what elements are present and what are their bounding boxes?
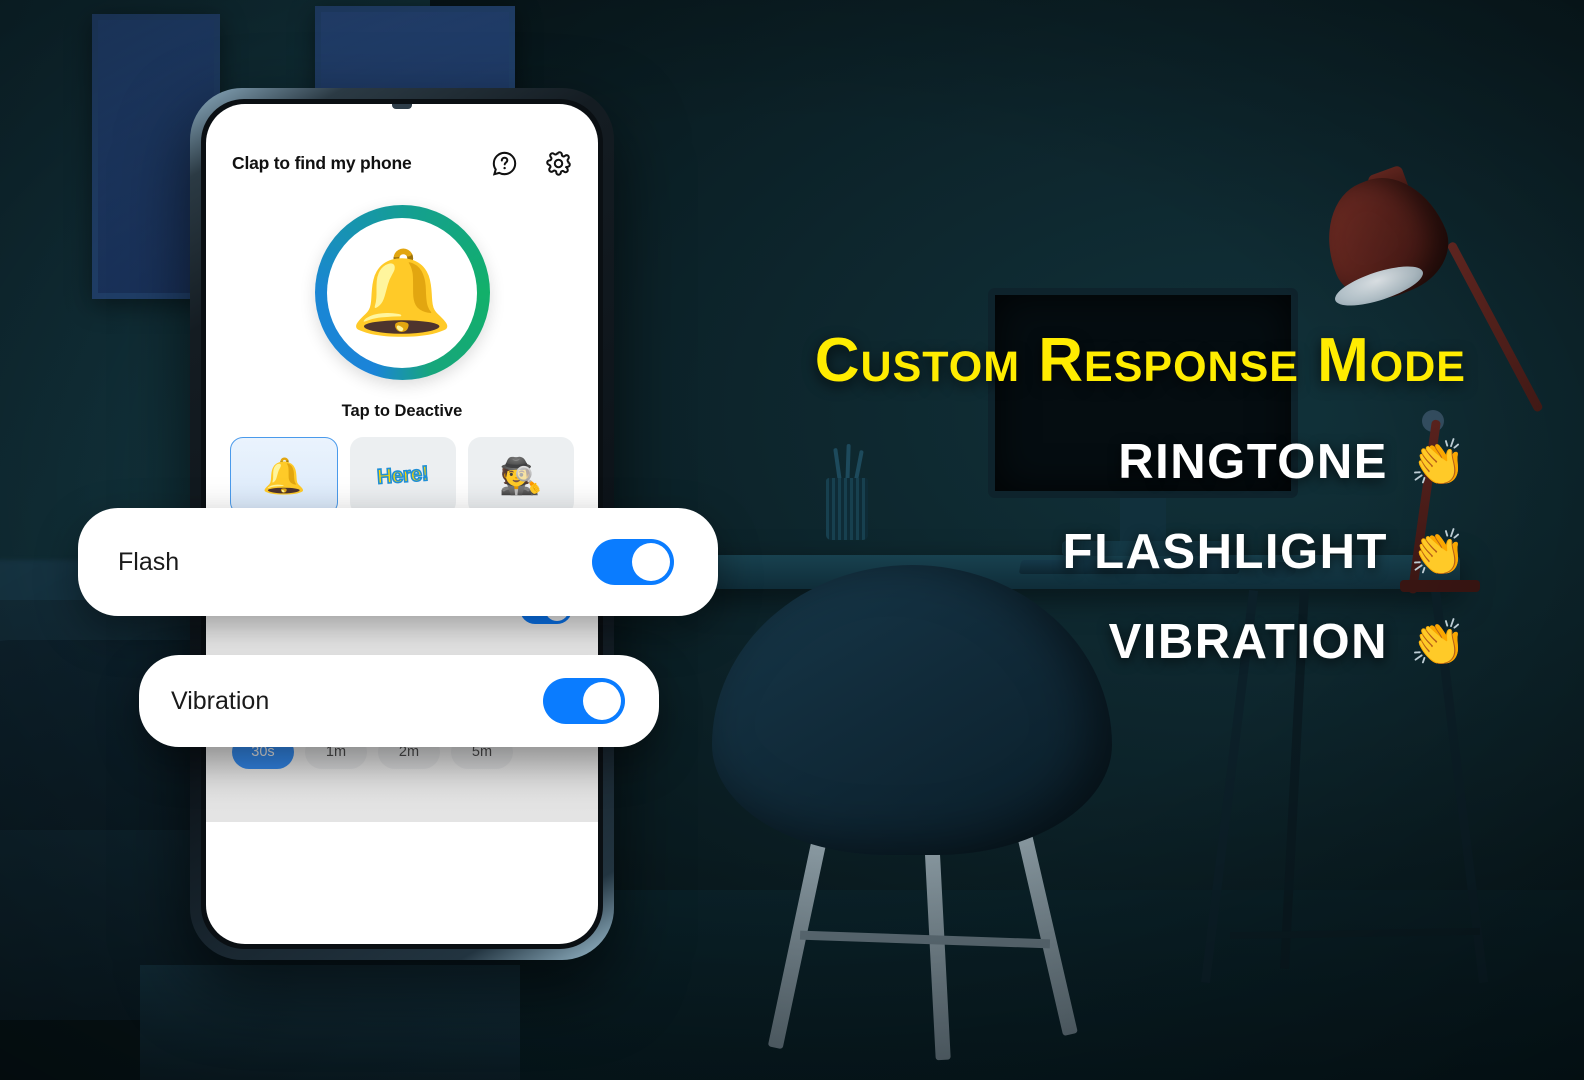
help-icon[interactable] <box>491 150 518 177</box>
promo-item-vibration: VIBRATION 👏 <box>684 614 1466 670</box>
floating-flash-label: Flash <box>118 548 179 577</box>
tap-to-deactivate-label[interactable]: Tap to Deactive <box>206 402 598 421</box>
promo-panel: Custom Response Mode RINGTONE 👏 FLASHLIG… <box>684 330 1584 704</box>
promo-title: Custom Response Mode <box>684 330 1466 392</box>
ringtone-card-bell[interactable]: 🔔 <box>230 437 338 515</box>
clapping-hands-icon: 👏 <box>1410 620 1466 665</box>
ringtone-card-cool-face[interactable]: 🕵️ <box>468 437 574 515</box>
phone-notch <box>392 104 412 109</box>
ringtone-card-here[interactable]: Here! <box>350 437 456 515</box>
ringtone-card-list: 🔔 Here! 🕵️ <box>206 421 598 515</box>
progress-ring: 🔔 <box>315 205 490 380</box>
floating-vibration-label: Vibration <box>171 687 269 716</box>
promo-ringtone-label: RINGTONE <box>1118 434 1388 490</box>
bell-status-ring[interactable]: 🔔 <box>206 205 598 380</box>
promo-flashlight-label: FLASHLIGHT <box>1063 524 1388 580</box>
floating-card-vibration[interactable]: Vibration <box>139 655 659 747</box>
promo-item-flashlight: FLASHLIGHT 👏 <box>684 524 1466 580</box>
floating-flash-toggle[interactable] <box>592 539 674 585</box>
app-title: Clap to find my phone <box>232 153 412 174</box>
floating-card-flash[interactable]: Flash <box>78 508 718 616</box>
clapping-hands-icon: 👏 <box>1410 530 1466 575</box>
floating-vibration-toggle[interactable] <box>543 678 625 724</box>
app-header: Clap to find my phone <box>206 104 598 177</box>
settings-icon[interactable] <box>545 150 572 177</box>
cool-face-emoji-icon: 🕵️ <box>499 456 543 497</box>
clapping-hands-icon: 👏 <box>1410 440 1466 485</box>
bell-icon: 🔔 <box>327 218 477 368</box>
bell-emoji-icon: 🔔 <box>262 456 306 497</box>
header-icon-group <box>491 150 572 177</box>
bed-storage-box <box>140 965 560 1080</box>
promo-feature-list: RINGTONE 👏 FLASHLIGHT 👏 VIBRATION 👏 <box>684 434 1466 670</box>
here-burst-label: Here! <box>377 462 430 490</box>
promo-item-ringtone: RINGTONE 👏 <box>684 434 1466 490</box>
promo-vibration-label: VIBRATION <box>1109 614 1388 670</box>
